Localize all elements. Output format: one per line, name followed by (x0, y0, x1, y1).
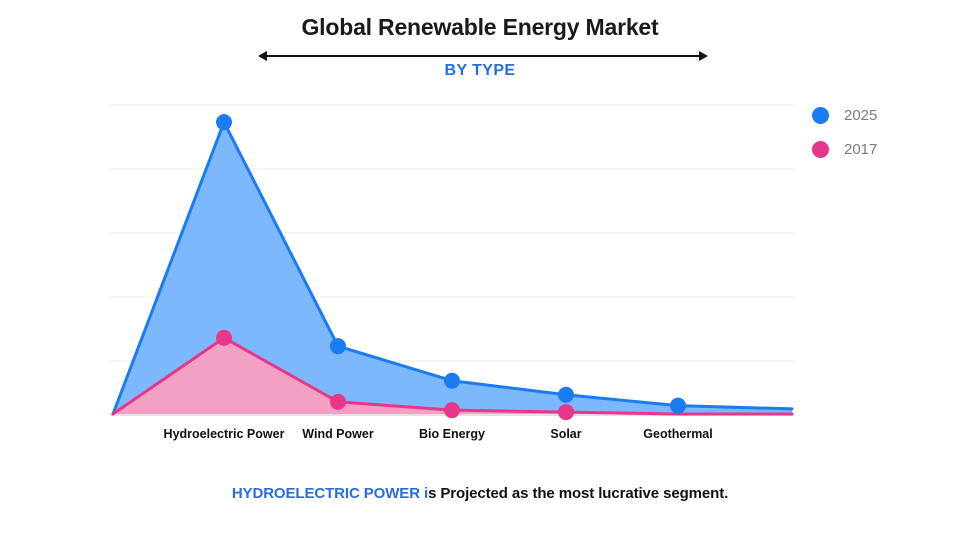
data-point-2025-Geothermal[interactable] (670, 398, 686, 414)
x-label-geothermal: Geothermal (608, 426, 748, 443)
data-point-2017-Bio Energy[interactable] (444, 402, 460, 418)
legend-item-2017[interactable]: 2017 (812, 132, 942, 166)
chart-legend: 2025 2017 (812, 98, 942, 166)
data-point-2017-Hydroelectric Power[interactable] (216, 330, 232, 346)
x-label-text: Geothermal (643, 427, 712, 441)
x-label-text: Bio Energy (419, 427, 485, 441)
legend-dot-icon (812, 141, 829, 158)
caption-rest: s Projected as the most lucrative segmen… (428, 485, 728, 502)
data-point-2025-Solar[interactable] (558, 387, 574, 403)
chart-canvas: Global Renewable Energy Market BY TYPE H… (0, 0, 960, 540)
legend-label: 2025 (844, 107, 877, 124)
x-axis-labels: Hydroelectric Power Wind Power Bio Energ… (0, 426, 960, 476)
x-label-text: Wind Power (302, 427, 373, 441)
data-point-2025-Hydroelectric Power[interactable] (216, 114, 232, 130)
legend-item-2025[interactable]: 2025 (812, 98, 942, 132)
data-point-2017-Solar[interactable] (558, 404, 574, 420)
data-point-2017-Wind Power[interactable] (330, 394, 346, 410)
legend-label: 2017 (844, 141, 877, 158)
legend-dot-icon (812, 107, 829, 124)
x-label-text: Hydroelectric Power (164, 427, 285, 441)
x-label-text: Solar (550, 427, 581, 441)
series-areas (113, 122, 792, 414)
data-point-2025-Bio Energy[interactable] (444, 373, 460, 389)
caption-highlight: HYDROELECTRIC POWER i (232, 485, 428, 502)
chart-caption: HYDROELECTRIC POWER is Projected as the … (0, 485, 960, 502)
data-point-2025-Wind Power[interactable] (330, 338, 346, 354)
